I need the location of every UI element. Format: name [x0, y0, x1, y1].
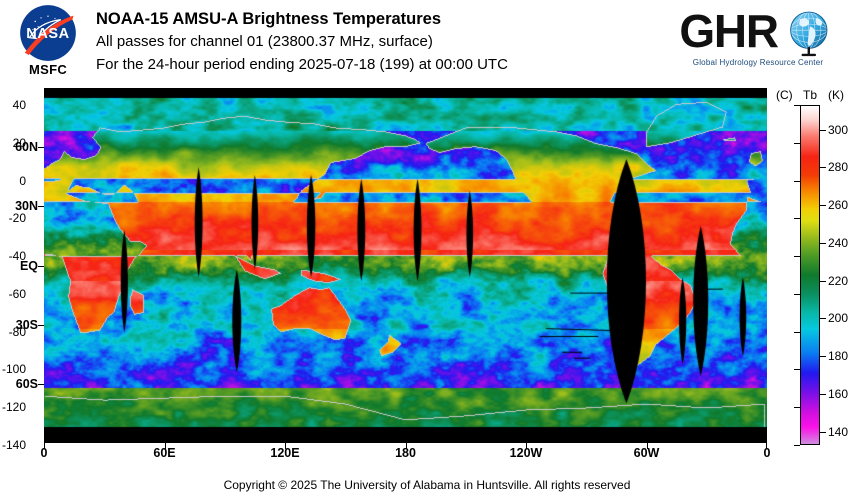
- colorbar-label-kelvin: 300: [828, 123, 848, 137]
- colorbar-tick-celsius: [794, 445, 800, 446]
- copyright-notice: Copyright © 2025 The University of Alaba…: [0, 478, 854, 492]
- lon-label: 0: [764, 446, 771, 460]
- colorbar-label-kelvin: 220: [828, 274, 848, 288]
- lon-label: 0: [41, 446, 48, 460]
- lon-label: 60E: [153, 446, 175, 460]
- subtitle-channel: All passes for channel 01 (23800.37 MHz,…: [96, 30, 676, 53]
- colorbar-label-kelvin: 160: [828, 387, 848, 401]
- colorbar-tick-kelvin: [820, 394, 826, 395]
- header: NASA MSFC NOAA-15 AMSU-A Brightness Temp…: [0, 0, 854, 88]
- colorbar-label-celsius: 20: [13, 136, 26, 150]
- colorbar-label-celsius: 0: [19, 174, 26, 188]
- lon-label: 180: [395, 446, 416, 460]
- ghrc-wordmark-icon: GHR: [678, 6, 838, 58]
- colorbar-header-celsius: (C): [776, 88, 793, 102]
- colorbar-label-celsius: -20: [9, 211, 26, 225]
- colorbar-tick-kelvin: [820, 243, 826, 244]
- lat-label: 60S: [0, 377, 38, 391]
- colorbar-tick-kelvin: [820, 130, 826, 131]
- nasa-logo: NASA MSFC: [10, 4, 86, 84]
- colorbar-tick-kelvin: [820, 318, 826, 319]
- colorbar-label-celsius: -140: [2, 438, 26, 452]
- colorbar-tick-kelvin: [820, 356, 826, 357]
- colorbar-label-kelvin: 260: [828, 198, 848, 212]
- colorbar-label-kelvin: 200: [828, 311, 848, 325]
- colorbar-label-celsius: -120: [2, 400, 26, 414]
- colorbar-label-celsius: 40: [13, 98, 26, 112]
- nasa-center-label: MSFC: [10, 62, 86, 77]
- colorbar-label-celsius: -100: [2, 362, 26, 376]
- colorbar-tick-celsius: [794, 407, 800, 408]
- lon-label: 60W: [634, 446, 660, 460]
- subtitle-period: For the 24-hour period ending 2025-07-18…: [96, 53, 676, 76]
- lat-tick: [38, 206, 44, 207]
- lat-tick: [38, 325, 44, 326]
- colorbar-tick-celsius: [794, 256, 800, 257]
- colorbar-header-kelvin: (K): [828, 88, 844, 102]
- colorbar-tick-celsius: [794, 369, 800, 370]
- ghrc-logo: GHR Global Hydrology Resource Center: [678, 6, 838, 80]
- map-raster: [44, 88, 767, 443]
- colorbar-header-quantity: Tb: [803, 88, 817, 102]
- page-title: NOAA-15 AMSU-A Brightness Temperatures: [96, 8, 676, 30]
- lat-tick: [38, 266, 44, 267]
- colorbar-tick-celsius: [794, 332, 800, 333]
- brightness-temperature-map[interactable]: [44, 88, 767, 443]
- colorbar-tick-celsius: [794, 294, 800, 295]
- colorbar-gradient: [800, 105, 820, 445]
- colorbar-tick-celsius: [794, 218, 800, 219]
- colorbar-tick-kelvin: [820, 205, 826, 206]
- colorbar-label-kelvin: 280: [828, 160, 848, 174]
- title-block: NOAA-15 AMSU-A Brightness Temperatures A…: [96, 8, 676, 76]
- lon-label: 120E: [270, 446, 299, 460]
- colorbar-tick-kelvin: [820, 281, 826, 282]
- svg-text:NASA: NASA: [26, 26, 69, 42]
- colorbar-tick-celsius: [794, 105, 800, 106]
- colorbar-label-kelvin: 240: [828, 236, 848, 250]
- colorbar-tick-celsius: [794, 181, 800, 182]
- colorbar-label-celsius: -60: [9, 287, 26, 301]
- svg-text:GHR: GHR: [679, 6, 778, 57]
- colorbar[interactable]: [800, 105, 820, 445]
- colorbar-tick-kelvin: [820, 167, 826, 168]
- colorbar-label-celsius: -40: [9, 249, 26, 263]
- lon-label: 120W: [510, 446, 543, 460]
- ghrc-tagline: Global Hydrology Resource Center: [678, 58, 838, 67]
- lat-tick: [38, 384, 44, 385]
- nasa-meatball-icon: NASA: [19, 4, 77, 62]
- colorbar-label-kelvin: 180: [828, 349, 848, 363]
- colorbar-tick-celsius: [794, 143, 800, 144]
- colorbar-tick-kelvin: [820, 432, 826, 433]
- colorbar-label-celsius: -80: [9, 325, 26, 339]
- colorbar-label-kelvin: 140: [828, 425, 848, 439]
- lat-tick: [38, 147, 44, 148]
